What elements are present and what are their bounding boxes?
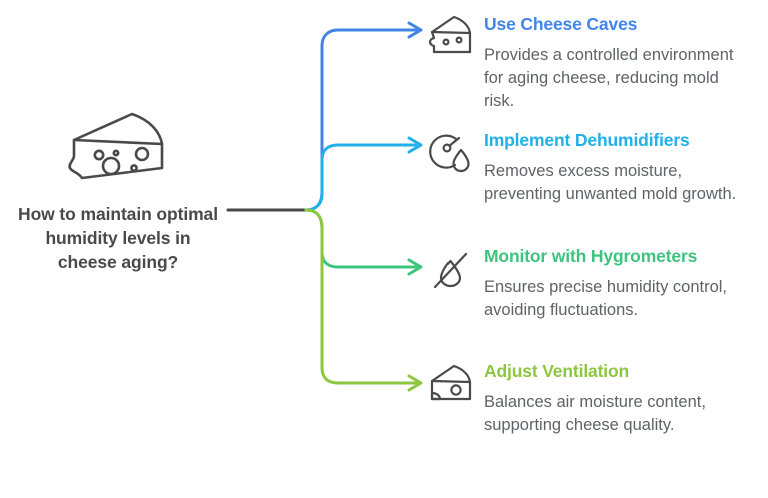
branch-item[interactable]: Use Cheese Caves Provides a controlled e… — [428, 14, 768, 114]
mindmap-canvas: How to maintain optimal humidity levels … — [0, 0, 768, 498]
cheese-wedge-icon — [66, 110, 170, 186]
gauge-droplet-icon — [428, 130, 474, 176]
root-node: How to maintain optimal humidity levels … — [8, 110, 228, 274]
branch-body: Implement Dehumidifiers Removes excess m… — [484, 130, 768, 206]
branch-title: Monitor with Hygrometers — [484, 246, 768, 267]
branch-item[interactable]: Monitor with Hygrometers Ensures precise… — [428, 246, 768, 322]
branch-description: Removes excess moisture, preventing unwa… — [484, 160, 746, 207]
root-label: How to maintain optimal humidity levels … — [18, 202, 218, 274]
branch-line-3 — [306, 210, 416, 383]
branch-body: Use Cheese Caves Provides a controlled e… — [484, 14, 768, 114]
branch-item[interactable]: Implement Dehumidifiers Removes excess m… — [428, 130, 768, 206]
branch-description: Ensures precise humidity control, avoidi… — [484, 276, 746, 323]
branch-line-1 — [306, 145, 416, 210]
branch-title: Use Cheese Caves — [484, 14, 768, 35]
branch-arrow-3 — [409, 376, 421, 390]
branch-arrow-0 — [409, 23, 421, 37]
cheese-wedge-holes-icon — [428, 14, 474, 60]
branch-body: Monitor with Hygrometers Ensures precise… — [484, 246, 768, 322]
branch-description: Provides a controlled environment for ag… — [484, 44, 746, 114]
branch-title: Implement Dehumidifiers — [484, 130, 768, 151]
cheese-block-hole-icon — [428, 361, 474, 407]
droplet-slash-icon — [428, 246, 474, 292]
branch-description: Balances air moisture content, supportin… — [484, 391, 746, 438]
branch-arrow-2 — [409, 260, 421, 274]
branch-title: Adjust Ventilation — [484, 361, 768, 382]
branch-arrow-1 — [409, 138, 421, 152]
branch-line-0 — [306, 30, 416, 210]
branch-item[interactable]: Adjust Ventilation Balances air moisture… — [428, 361, 768, 437]
branch-line-2 — [306, 210, 416, 267]
branch-body: Adjust Ventilation Balances air moisture… — [484, 361, 768, 437]
